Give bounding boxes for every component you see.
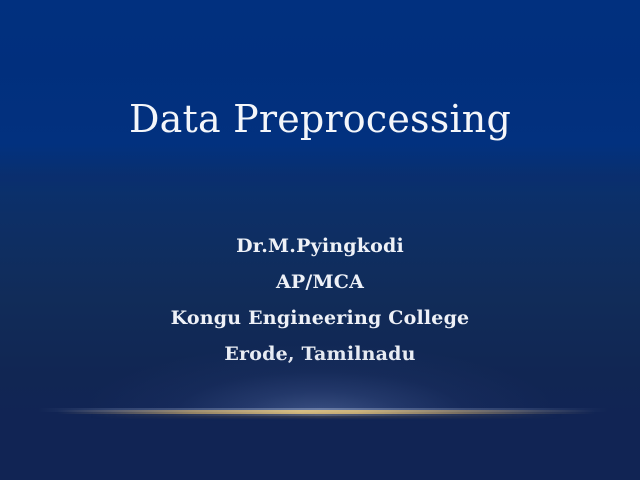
subtitle-line-location: Erode, Tamilnadu: [0, 336, 640, 372]
subtitle-line-designation: AP/MCA: [0, 264, 640, 300]
subtitle-line-institution: Kongu Engineering College: [0, 300, 640, 336]
divider-gold-line: [0, 410, 640, 414]
background-band-seam: [0, 166, 640, 188]
subtitle-line-presenter: Dr.M.Pyingkodi: [0, 228, 640, 264]
page-title: Data Preprocessing: [0, 96, 640, 142]
divider-halo: [0, 408, 640, 412]
title-slide: Data Preprocessing Dr.M.Pyingkodi AP/MCA…: [0, 0, 640, 480]
subtitle-block: Dr.M.Pyingkodi AP/MCA Kongu Engineering …: [0, 228, 640, 372]
divider-underglow: [0, 413, 640, 418]
divider-rule: [0, 404, 640, 420]
